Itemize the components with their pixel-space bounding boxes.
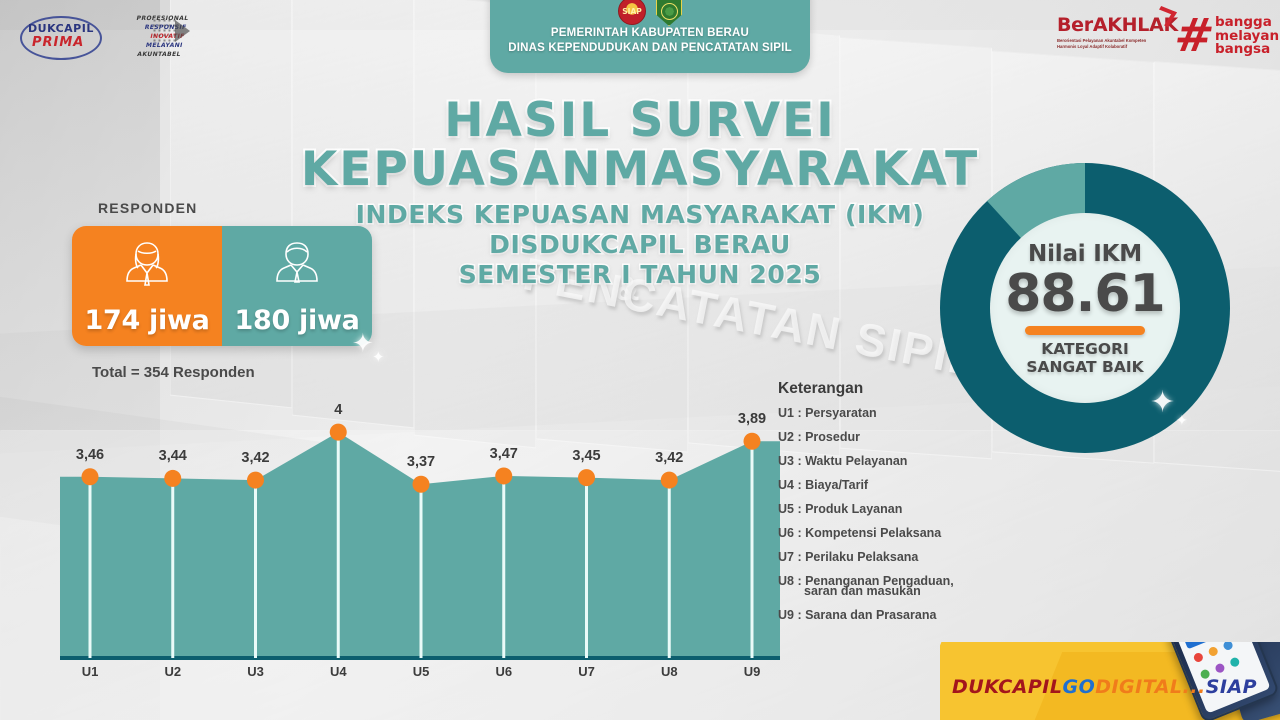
x-axis-label: U4 (330, 664, 347, 679)
sparkle-icon-small: ✦ (372, 348, 385, 366)
footer-word-4: SIAP (1206, 676, 1257, 698)
banner-seals: SIAP (490, 0, 810, 26)
siap-seal-icon: SIAP (618, 0, 646, 25)
chart-svg (60, 372, 780, 662)
prima-logo-text: PRIMA (32, 35, 84, 50)
legend-item-u7: U7 : Perilaku Pelaksana (778, 550, 993, 565)
dukcapil-prima-logo: DUKCAPIL PRIMA PROFESIONAL RESPONSIF INO… (8, 6, 188, 68)
ikm-category: KATEGORI SANGAT BAIK (1026, 340, 1143, 376)
dukcapil-logo-text: DUKCAPIL (28, 22, 94, 35)
banner-line-1: PEMERINTAH KABUPATEN BERAU (490, 26, 810, 41)
responden-card: 174 jiwa 180 jiwa (72, 226, 372, 346)
chart-value-label: 3,42 (241, 450, 269, 466)
chart-value-label: 3,45 (572, 448, 600, 464)
chart-value-label: 3,89 (738, 411, 766, 427)
ikm-value: 88.61 (1005, 267, 1164, 321)
x-axis-label: U6 (495, 664, 512, 679)
female-count: 174 jiwa (72, 305, 222, 336)
x-axis-label: U7 (578, 664, 595, 679)
chart-marker[interactable] (247, 472, 264, 489)
chart-value-label: 3,44 (159, 448, 187, 464)
title-line-1: HASIL SURVEI (0, 96, 1280, 145)
ikm-category-line-1: KATEGORI (1026, 340, 1143, 358)
ikm-score-donut: Nilai IKM 88.61 KATEGORI SANGAT BAIK (940, 163, 1230, 453)
legend-item-u9: U9 : Sarana dan Prasarana (778, 608, 993, 623)
male-count: 180 jiwa (222, 305, 372, 336)
arrow-icon (175, 20, 190, 42)
legend-item-u5: U5 : Produk Layanan (778, 502, 993, 517)
legend-item-u4: U4 : Biaya/Tarif (778, 478, 993, 493)
berakhlak-logo: BerAKHLAK Berorientasi Pelayanan Akuntab… (1057, 14, 1165, 50)
chart-marker[interactable] (82, 468, 99, 485)
legend-item-u3: U3 : Waktu Pelayanan (778, 454, 993, 469)
responden-label: RESPONDEN (98, 200, 197, 216)
infographic-canvas: & PENCATATAN SIPIL DUKCAPIL PRIMA PROFES… (0, 0, 1280, 720)
chart-value-label: 3,47 (490, 446, 518, 462)
chart-x-axis: U1U2U3U4U5U6U7U8U9 (60, 664, 780, 690)
chart-marker[interactable] (661, 472, 678, 489)
ikm-area-chart (60, 372, 780, 662)
chart-marker[interactable] (164, 470, 181, 487)
sparkle-icon-donut-small: ✦ (1176, 412, 1188, 429)
footer-word-1: DUKCAPIL (952, 676, 1062, 698)
chart-marker[interactable] (495, 467, 512, 484)
chart-value-label: 4 (334, 402, 342, 418)
chart-marker[interactable] (578, 469, 595, 486)
footer-word-3: DIGITAL... (1095, 676, 1205, 698)
banner-line-2: DINAS KEPENDUDUKAN DAN PENCATATAN SIPIL (490, 41, 810, 56)
x-axis-label: U1 (82, 664, 99, 679)
go-digital-text: DUKCAPILGODIGITAL...SIAP (952, 676, 1257, 698)
legend-item-u6: U6 : Kompetensi Pelaksana (778, 526, 993, 541)
female-user-icon (119, 235, 175, 296)
header-banner: SIAP PEMERINTAH KABUPATEN BERAU DINAS KE… (490, 0, 810, 73)
ikm-inner-disc: Nilai IKM 88.61 KATEGORI SANGAT BAIK (990, 213, 1180, 403)
x-axis-label: U9 (744, 664, 761, 679)
berakhlak-subtext: Berorientasi Pelayanan Akuntabel Kompete… (1057, 38, 1165, 50)
berau-emblem-icon (656, 0, 682, 26)
responden-male: 180 jiwa (222, 226, 372, 346)
x-axis-label: U8 (661, 664, 678, 679)
x-axis-label: U5 (413, 664, 430, 679)
chart-value-label: 3,37 (407, 454, 435, 470)
male-user-icon (269, 235, 325, 296)
berakhlak-wordmark: BerAKHLAK (1057, 14, 1165, 36)
legend-item-u8-continuation: saran dan masukan (804, 584, 993, 599)
chart-marker[interactable] (330, 424, 347, 441)
partner-logos: BerAKHLAK Berorientasi Pelayanan Akuntab… (1057, 8, 1272, 66)
sparkle-icon: ✦ (352, 328, 374, 359)
ikm-accent-bar (1025, 326, 1145, 335)
responden-female: 174 jiwa (72, 226, 222, 346)
sparkle-icon-donut: ✦ (1150, 385, 1175, 420)
x-axis-label: U2 (164, 664, 181, 679)
ikm-category-line-2: SANGAT BAIK (1026, 358, 1143, 376)
chart-value-label: 3,42 (655, 450, 683, 466)
banner-title: PEMERINTAH KABUPATEN BERAU DINAS KEPENDU… (490, 26, 810, 56)
ikm-caption: Nilai IKM (1028, 241, 1142, 267)
x-axis-label: U3 (247, 664, 264, 679)
chart-marker[interactable] (744, 433, 761, 450)
footer-word-2: GO (1062, 676, 1095, 698)
bangga-wordmark: bangga melayani bangsa (1215, 16, 1280, 57)
chart-marker[interactable] (413, 476, 430, 493)
hashtag-icon: # (1172, 16, 1214, 56)
go-digital-banner: DUKCAPILGODIGITAL...SIAP (940, 642, 1280, 720)
chart-value-label: 3,46 (76, 447, 104, 463)
